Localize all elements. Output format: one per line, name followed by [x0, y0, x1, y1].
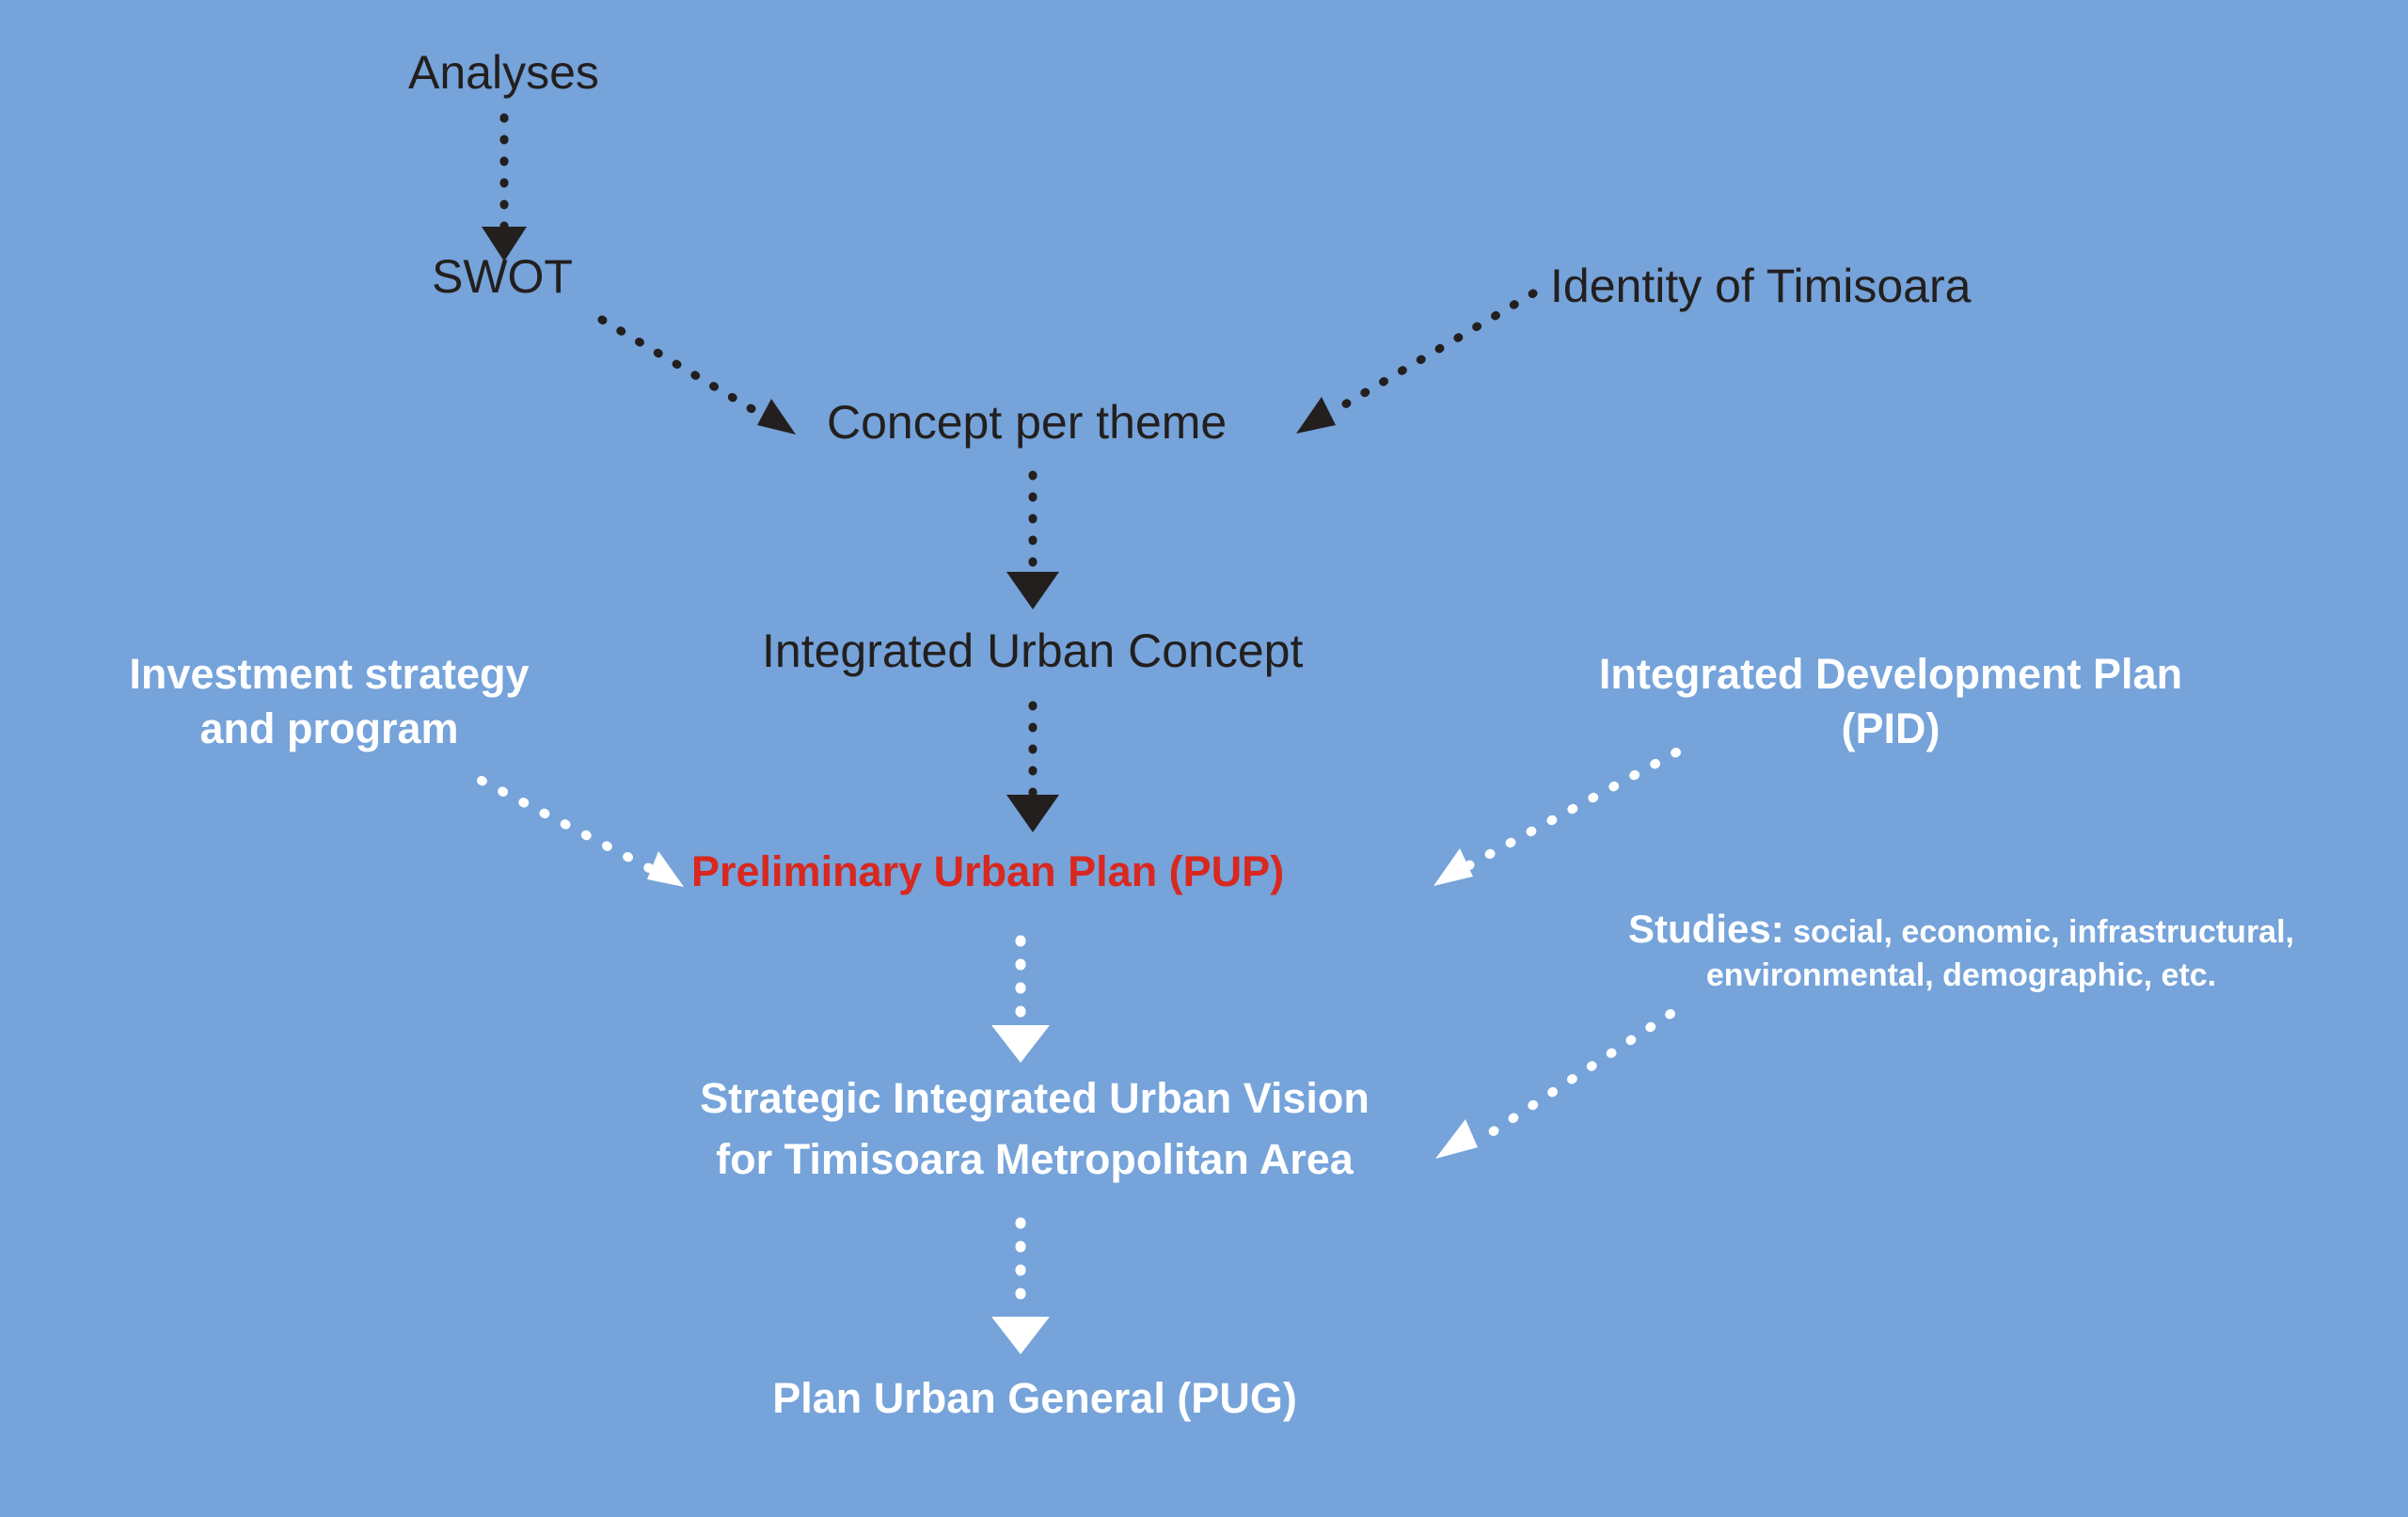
investment-line-2: and program	[89, 702, 569, 756]
studies-label: Studies:	[1628, 907, 1784, 951]
arrow-layer	[0, 0, 2408, 1517]
node-integrated-development-plan: Integrated Development Plan (PID)	[1547, 647, 2234, 755]
pid-line-2: (PID)	[1547, 702, 2234, 756]
pid-line-1: Integrated Development Plan	[1547, 647, 2234, 702]
edge-identity-to-concept	[1296, 293, 1533, 434]
vision-line-2: for Timisoara Metropolitan Area	[621, 1129, 1449, 1190]
studies-body: social, economic, infrastructural, envir…	[1706, 914, 2294, 993]
node-concept-per-theme: Concept per theme	[827, 395, 1227, 450]
node-analyses: Analyses	[408, 45, 599, 101]
edge-swot-to-concept	[602, 320, 796, 435]
edge-vision-to-pug	[991, 1223, 1050, 1354]
node-plan-urban-general: Plan Urban General (PUG)	[621, 1373, 1449, 1423]
node-identity-of-timisoara: Identity of Timisoara	[1550, 259, 1971, 314]
node-integrated-urban-concept: Integrated Urban Concept	[762, 624, 1303, 679]
node-strategic-integrated-urban-vision: Strategic Integrated Urban Vision for Ti…	[621, 1067, 1449, 1191]
diagram-canvas: Analyses SWOT Identity of Timisoara Conc…	[0, 0, 2408, 1517]
edge-pid-to-pup	[1434, 752, 1676, 886]
node-investment-strategy-and-program: Investment strategy and program	[89, 647, 569, 755]
edge-concept-to-iuc	[1006, 475, 1059, 609]
edge-analyses-to-swot	[482, 118, 527, 261]
edge-studies-to-vision	[1435, 1014, 1671, 1159]
node-studies: Studies: social, economic, infrastructur…	[1547, 903, 2375, 997]
edge-investment-to-pup	[482, 781, 684, 887]
edge-iuc-to-pup	[1006, 705, 1059, 832]
node-swot: SWOT	[432, 249, 573, 305]
vision-line-1: Strategic Integrated Urban Vision	[621, 1067, 1449, 1129]
investment-line-1: Investment strategy	[89, 647, 569, 702]
edge-pup-to-vision	[991, 940, 1050, 1063]
node-preliminary-urban-plan: Preliminary Urban Plan (PUP)	[691, 846, 1284, 896]
